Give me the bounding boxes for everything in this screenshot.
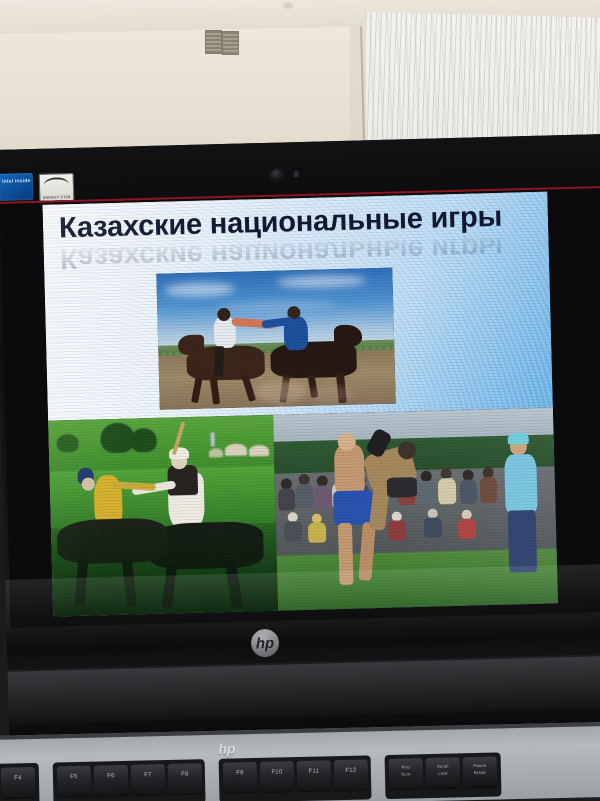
camera-indicator-icon <box>294 171 299 177</box>
key-f11[interactable]: F11 <box>297 760 332 791</box>
key-print-screen[interactable]: Prnt Scrn <box>389 758 424 789</box>
tree <box>130 428 157 453</box>
referee-pants <box>508 510 538 573</box>
laptop-lid: intel inside ENERGY STAR Казахские нацио… <box>0 134 600 670</box>
spectator <box>480 477 498 503</box>
referee-jacket <box>504 454 538 513</box>
wall-vent-icon <box>205 30 222 54</box>
spectator-seated <box>388 520 407 540</box>
key-f7[interactable]: F7 <box>131 764 166 795</box>
rider-leg <box>214 346 224 376</box>
ceiling-fixture <box>283 2 293 9</box>
key-group-utility: Prnt Scrn Scroll Lock Pause Break <box>385 752 502 799</box>
wrestler-torso <box>334 444 365 495</box>
key-f12[interactable]: F12 <box>334 759 369 790</box>
webcam-icon <box>271 168 284 181</box>
referee-cap <box>508 432 529 445</box>
key-f5[interactable]: F5 <box>57 766 92 797</box>
spectator <box>418 481 436 505</box>
horse-head <box>178 335 205 356</box>
key-f6[interactable]: F6 <box>94 765 129 796</box>
key-f8[interactable]: F8 <box>168 763 203 794</box>
key-group-f9-f12: F9 F10 F11 F12 <box>219 755 372 801</box>
lid-sheen <box>5 564 600 670</box>
yurt <box>225 443 247 456</box>
key-pause[interactable]: Pause Break <box>463 757 498 788</box>
photo-scene: intel inside ENERGY STAR Казахские нацио… <box>0 0 600 801</box>
wrestler-arm <box>387 477 418 498</box>
key-f4[interactable]: F4 <box>1 767 36 798</box>
key-group-f5-f8: F5 F6 F7 F8 <box>53 759 206 801</box>
spectator-seated <box>284 521 303 541</box>
wall-vent-icon <box>222 31 239 55</box>
tree <box>56 434 78 453</box>
spectator <box>460 479 478 503</box>
spectator <box>314 485 332 509</box>
spectator <box>296 484 314 508</box>
spectator-seated <box>458 519 477 539</box>
photo-audaryspak[interactable] <box>156 268 395 410</box>
flag-pole <box>210 432 214 446</box>
spectator <box>278 488 296 510</box>
key-f9[interactable]: F9 <box>223 762 258 793</box>
yurt <box>249 445 269 457</box>
key-group-left: F4 <box>0 763 40 801</box>
energy-star-mark-icon <box>44 177 69 193</box>
laptop-screen[interactable]: Казахские национальные игры Казахские на… <box>42 192 558 617</box>
energy-star-sticker: ENERGY STAR <box>39 173 75 202</box>
key-f10[interactable]: F10 <box>260 761 295 792</box>
key-scroll-lock[interactable]: Scroll Lock <box>426 757 461 788</box>
palmrest-hp-logo: hp <box>218 740 235 756</box>
laptop-base: hp F4 F5 F6 F7 F8 F9 <box>0 722 600 801</box>
spectator <box>438 478 457 504</box>
presentation-slide[interactable]: Казахские национальные игры Казахские на… <box>42 192 558 617</box>
yurt <box>209 448 223 457</box>
spectator-seated <box>308 522 327 542</box>
spectator-seated <box>424 517 443 537</box>
wrestler-shorts <box>333 490 374 525</box>
horse-head <box>334 324 363 347</box>
intel-sticker: intel inside <box>0 173 33 201</box>
